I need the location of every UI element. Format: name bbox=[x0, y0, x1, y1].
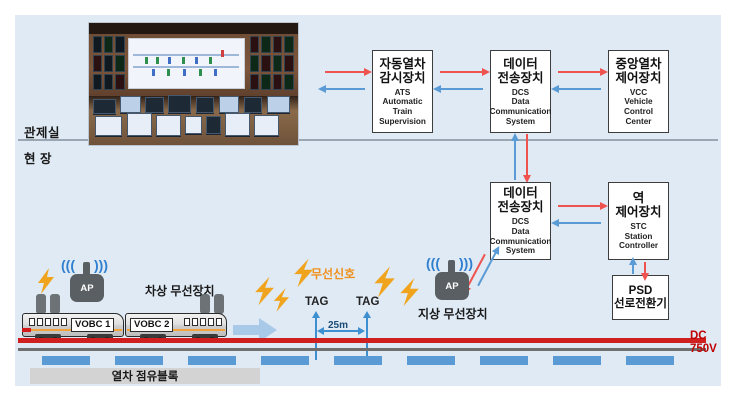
box-psd[interactable]: PSD 선로전환기 bbox=[612, 275, 669, 320]
train-car-2-vobc-label: VOBC 2 bbox=[130, 318, 173, 332]
arrow-dcs-to-vcc-red bbox=[558, 71, 601, 73]
box-ats[interactable]: 자동열차 감시장치 ATS Automatic Train Supervisio… bbox=[372, 50, 433, 133]
arrow-psd-to-stc-blue bbox=[632, 264, 634, 274]
track-block-2 bbox=[115, 356, 163, 365]
running-rail bbox=[18, 348, 706, 351]
track-block-1 bbox=[42, 356, 90, 365]
track-block-9 bbox=[626, 356, 674, 365]
train-car-1: VOBC 1 bbox=[22, 313, 124, 337]
track-block-5 bbox=[334, 356, 382, 365]
track-block-4 bbox=[261, 356, 309, 365]
box-ats-en: ATS Automatic Train Supervision bbox=[379, 88, 426, 127]
arrow-dcs-to-ats-blue bbox=[440, 88, 483, 90]
arrow-ats-to-dcs-red bbox=[440, 71, 483, 73]
lightning-bolt-wireless-4-icon bbox=[372, 266, 396, 298]
box-dcs-upper-ko: 데이터 전송장치 bbox=[497, 57, 543, 85]
ap-onboard-label: AP bbox=[80, 283, 93, 294]
track-block-3 bbox=[188, 356, 236, 365]
track-block-6 bbox=[407, 356, 455, 365]
box-stc-en: STC Station Controller bbox=[619, 222, 658, 251]
box-dcs-upper[interactable]: 데이터 전송장치 DCS Data Communication System bbox=[490, 50, 551, 133]
arrow-vcc-to-dcs-blue bbox=[558, 88, 601, 90]
arrow-dcs-to-stc-red bbox=[558, 205, 601, 207]
section-label-control-room: 관제실 bbox=[24, 122, 60, 141]
onboard-antenna-4 bbox=[214, 294, 224, 314]
label-occupancy-block: 열차 점유블록 bbox=[112, 368, 179, 384]
label-tag-spacing: 25m bbox=[328, 320, 348, 331]
ap-onboard[interactable]: AP bbox=[70, 274, 104, 302]
box-stc-ko: 역 제어장치 bbox=[615, 191, 661, 219]
label-dc-750v: DC 750V bbox=[690, 330, 717, 356]
box-vcc-en: VCC Vehicle Control Center bbox=[624, 88, 653, 127]
box-stc[interactable]: 역 제어장치 STC Station Controller bbox=[608, 182, 669, 260]
label-wireless-signal: 무선신호 bbox=[311, 265, 355, 282]
track-block-7 bbox=[480, 356, 528, 365]
power-rail-dc750v bbox=[18, 338, 706, 343]
radio-wave-left-onboard-icon: ((( bbox=[61, 258, 75, 272]
lightning-bolt-wireless-2-icon bbox=[272, 288, 290, 312]
lightning-bolt-onboard-icon bbox=[36, 268, 56, 294]
diagram-canvas: 관제실 현 장 bbox=[0, 0, 736, 401]
arrow-dcs-upper-to-lower-red bbox=[526, 134, 528, 176]
box-dcs-lower-ko: 데이터 전송장치 bbox=[497, 186, 543, 214]
box-ats-ko: 자동열차 감시장치 bbox=[379, 57, 425, 85]
radio-wave-left-ground-icon: ((( bbox=[426, 256, 440, 270]
arrow-stc-to-psd-red bbox=[644, 262, 646, 274]
train-car-2: VOBC 2 bbox=[125, 313, 227, 337]
label-tag-right: TAG bbox=[356, 296, 379, 308]
train-car-1-vobc-label: VOBC 1 bbox=[71, 318, 114, 332]
box-dcs-upper-en: DCS Data Communication System bbox=[490, 88, 552, 127]
onboard-antenna-2 bbox=[50, 294, 60, 314]
box-psd-ko: PSD 선로전환기 bbox=[614, 285, 667, 311]
box-vcc-ko: 중앙열차 제어장치 bbox=[615, 57, 661, 85]
lightning-bolt-wireless-5-icon bbox=[398, 278, 420, 306]
onboard-antenna-1 bbox=[36, 294, 46, 314]
video-wall bbox=[129, 39, 244, 88]
arrow-dcs-lower-to-upper-blue bbox=[514, 140, 516, 180]
occupancy-block-bar: 열차 점유블록 bbox=[30, 368, 260, 384]
track-block-8 bbox=[553, 356, 601, 365]
arrow-ats-to-photo-blue bbox=[325, 88, 365, 90]
ap-ground-label: AP bbox=[445, 281, 458, 292]
box-vcc[interactable]: 중앙열차 제어장치 VCC Vehicle Control Center bbox=[608, 50, 669, 133]
radio-wave-right-ground-icon: ))) bbox=[459, 256, 473, 270]
arrow-stc-to-dcs-blue bbox=[558, 222, 601, 224]
label-ground-radio: 지상 무선장치 bbox=[418, 305, 488, 322]
control-room-photo bbox=[88, 22, 299, 146]
label-onboard-radio: 차상 무선장치 bbox=[145, 282, 215, 299]
radio-wave-right-onboard-icon: ))) bbox=[94, 258, 108, 272]
section-label-field: 현 장 bbox=[24, 148, 52, 167]
ap-ground[interactable]: AP bbox=[435, 272, 469, 300]
train-nose-marker bbox=[22, 328, 31, 332]
label-tag-left: TAG bbox=[305, 296, 328, 308]
arrow-photo-to-ats-red bbox=[325, 71, 365, 73]
